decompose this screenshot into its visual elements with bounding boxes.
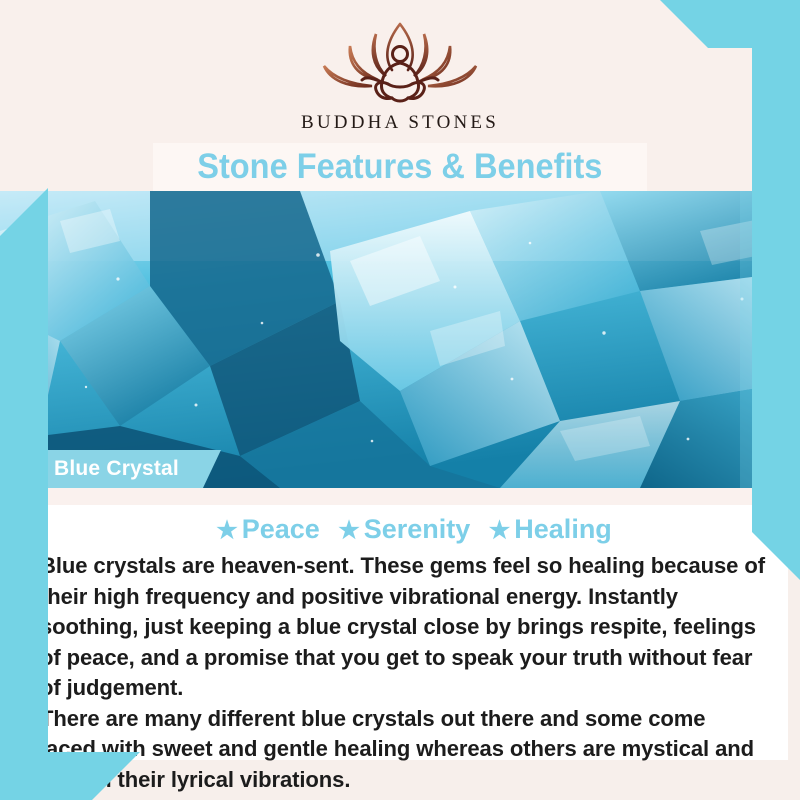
feature-item-serenity: ★Serenity (338, 514, 470, 545)
corner-accent-right (752, 0, 800, 580)
feature-label-peace: Peace (242, 514, 320, 544)
brand-wordmark: BUDDHA STONES (0, 112, 800, 134)
page-title: Stone Features & Benefits (197, 147, 602, 187)
brand-logo: BUDDHA STONES (0, 18, 800, 134)
description-paragraph-1: Blue crystals are heaven-sent. These gem… (40, 551, 767, 704)
crystal-name-banner: Blue Crystal (22, 450, 221, 488)
feature-list: ★Peace ★Serenity ★Healing (40, 514, 788, 545)
crystal-photo-art (0, 191, 800, 488)
poster-root: BUDDHA STONES Stone Features & Benefits (0, 0, 800, 800)
content-card: ★Peace ★Serenity ★Healing Blue crystals … (40, 505, 788, 760)
feature-item-peace: ★Peace (216, 514, 320, 545)
crystal-photo: Blue Crystal (0, 191, 800, 488)
description-paragraph-2: There are many different blue crystals o… (40, 704, 767, 796)
corner-accent-left (0, 188, 48, 800)
photo-bottom-strip (0, 488, 800, 506)
feature-label-serenity: Serenity (364, 514, 471, 544)
lotus-meditation-icon (314, 18, 486, 110)
description-block: Blue crystals are heaven-sent. These gem… (40, 551, 788, 795)
star-icon: ★ (338, 517, 360, 544)
feature-label-healing: Healing (514, 514, 612, 544)
crystal-name-label: Blue Crystal (54, 457, 179, 481)
title-band: Stone Features & Benefits (153, 143, 647, 191)
feature-item-healing: ★Healing (489, 514, 612, 545)
star-icon: ★ (216, 517, 238, 544)
star-icon: ★ (489, 517, 511, 544)
